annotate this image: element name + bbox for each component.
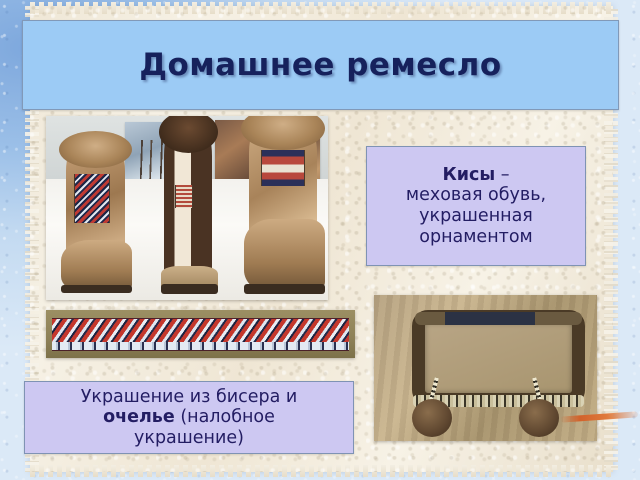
slide-title-box: Домашнее ремесло <box>22 20 619 110</box>
beaded-ornament-strip <box>52 318 349 352</box>
callout-kisy-line4: орнаментом <box>419 227 533 247</box>
fur-headband-ring <box>412 310 585 406</box>
boot-foot <box>244 219 325 292</box>
callout-kisy-term: Кисы <box>442 165 495 185</box>
callout-kisy-text: Кисы – меховая обувь, украшенная орнамен… <box>367 165 585 248</box>
boot-sole <box>244 284 325 294</box>
callout-beads: Украшение из бисера и очелье (налобное у… <box>24 381 354 454</box>
callout-beads-line3: украшение) <box>134 428 244 448</box>
callout-beads-text: Украшение из бисера и очелье (налобное у… <box>25 387 353 449</box>
fur-boot-right <box>249 123 317 289</box>
torn-edge-top <box>30 2 613 14</box>
fur-pompom-right <box>519 399 559 437</box>
callout-kisy: Кисы – меховая обувь, украшенная орнамен… <box>366 146 586 266</box>
boot-bead-ornament <box>175 185 193 208</box>
callout-kisy-dash: – <box>495 165 509 185</box>
callout-beads-term: очелье <box>103 407 175 427</box>
photo-beaded-band <box>46 310 355 358</box>
fur-boot-center <box>164 127 212 289</box>
fur-pompom-left <box>412 399 452 437</box>
photo-fur-headband <box>374 295 597 441</box>
callout-kisy-line2: меховая обувь, <box>406 185 546 205</box>
slide-title: Домашнее ремесло <box>139 47 501 83</box>
boot-sole <box>161 284 219 294</box>
boot-bead-ornament <box>261 150 305 186</box>
boot-sole <box>61 285 132 294</box>
callout-kisy-line3: украшенная <box>419 206 533 226</box>
photo-fur-boots <box>46 116 328 300</box>
callout-beads-line1: Украшение из бисера и <box>81 387 298 407</box>
boot-bead-ornament <box>74 174 110 223</box>
torn-edge-bottom <box>30 465 613 477</box>
slide-canvas: Домашнее ремесло <box>0 0 640 480</box>
callout-beads-line2-rest: (налобное <box>175 407 275 427</box>
fur-boot-left <box>66 145 125 289</box>
